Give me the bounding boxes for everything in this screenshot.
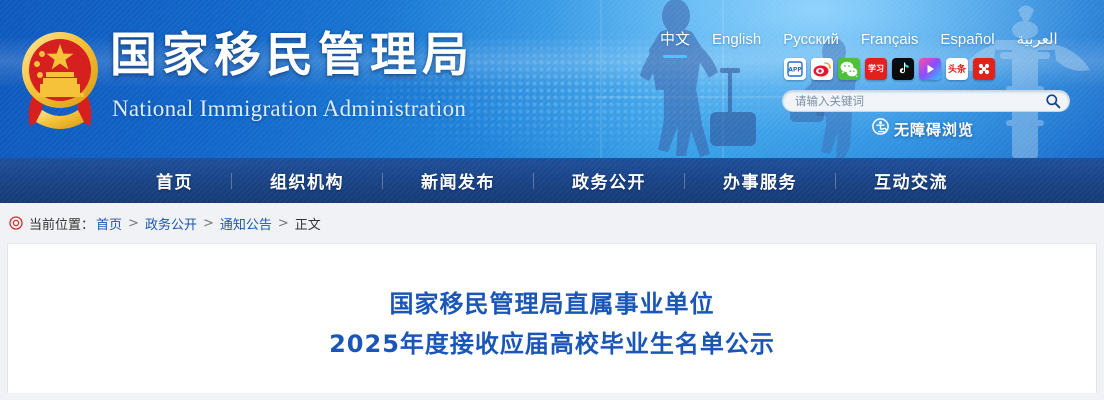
lang-link-zh[interactable]: 中文 — [660, 28, 690, 49]
location-pin-icon — [9, 216, 23, 230]
weibo-icon[interactable] — [811, 58, 833, 80]
douyin-icon[interactable] — [892, 58, 914, 80]
xuexiqiangguo-icon[interactable]: 学习 — [865, 58, 887, 80]
article-title-line-2: 2025年度接收应届高校毕业生名单公示 — [8, 324, 1096, 364]
toutiao-icon[interactable]: 头条 — [946, 58, 968, 80]
accessibility-label: 无障碍浏览 — [894, 119, 974, 140]
nav-list: 首页 组织机构 新闻发布 政务公开 办事服务 互动交流 — [118, 168, 986, 193]
breadcrumb-item-current: 正文 — [295, 214, 321, 233]
lang-link-ar[interactable]: العربية — [1017, 30, 1058, 48]
svg-text:APP: APP — [788, 67, 802, 74]
main-navigation: 首页 组织机构 新闻发布 政务公开 办事服务 互动交流 — [0, 158, 1104, 203]
banner-mullion-vertical — [722, 0, 724, 158]
nav-item-interaction[interactable]: 互动交流 — [836, 168, 986, 193]
site-banner: 国家移民管理局 National Immigration Administrat… — [0, 0, 1104, 158]
lang-link-fr[interactable]: Français — [861, 31, 919, 48]
search-box[interactable] — [782, 90, 1070, 112]
article-title-line-1: 国家移民管理局直属事业单位 — [8, 244, 1096, 324]
breadcrumb-item-notices[interactable]: 通知公告 — [220, 214, 272, 233]
video-channel-icon[interactable] — [919, 58, 941, 80]
search-icon[interactable] — [1045, 93, 1061, 109]
breadcrumb: 当前位置： 首页 > 政务公开 > 通知公告 > 正文 — [0, 203, 1104, 243]
kuaishou-icon[interactable] — [973, 58, 995, 80]
nav-item-home[interactable]: 首页 — [118, 168, 231, 193]
site-subtitle: National Immigration Administration — [112, 97, 466, 120]
search-input[interactable] — [795, 94, 1045, 108]
traveler-silhouette-main — [612, 0, 792, 158]
nav-item-government-affairs[interactable]: 政务公开 — [534, 168, 684, 193]
language-switcher: 中文 English Русский Français Español العر… — [660, 28, 1058, 49]
breadcrumb-item-government[interactable]: 政务公开 — [145, 214, 197, 233]
breadcrumb-separator: > — [128, 216, 139, 231]
accessibility-button[interactable]: 无障碍浏览 — [872, 118, 974, 140]
breadcrumb-item-home[interactable]: 首页 — [96, 214, 122, 233]
breadcrumb-separator: > — [278, 216, 289, 231]
article-card: 国家移民管理局直属事业单位 2025年度接收应届高校毕业生名单公示 — [7, 243, 1097, 393]
site-title: 国家移民管理局 — [110, 32, 474, 79]
wechat-icon[interactable] — [838, 58, 860, 80]
nav-item-organization[interactable]: 组织机构 — [232, 168, 382, 193]
banner-mullion-vertical-2 — [600, 0, 602, 158]
app-download-icon[interactable]: APP — [784, 58, 806, 80]
breadcrumb-separator: > — [203, 216, 214, 231]
accessibility-icon — [872, 118, 889, 140]
lang-link-ru[interactable]: Русский — [783, 31, 839, 48]
lang-link-es[interactable]: Español — [940, 31, 994, 48]
national-emblem-icon — [14, 26, 106, 130]
nav-item-services[interactable]: 办事服务 — [685, 168, 835, 193]
nav-item-news[interactable]: 新闻发布 — [383, 168, 533, 193]
page-title: 国家移民管理局直属事业单位 2025年度接收应届高校毕业生名单公示 — [8, 244, 1096, 364]
social-app-icon-row: APP 学习 头条 — [784, 58, 995, 80]
lang-link-en[interactable]: English — [712, 31, 761, 48]
breadcrumb-label: 当前位置： — [29, 214, 94, 233]
